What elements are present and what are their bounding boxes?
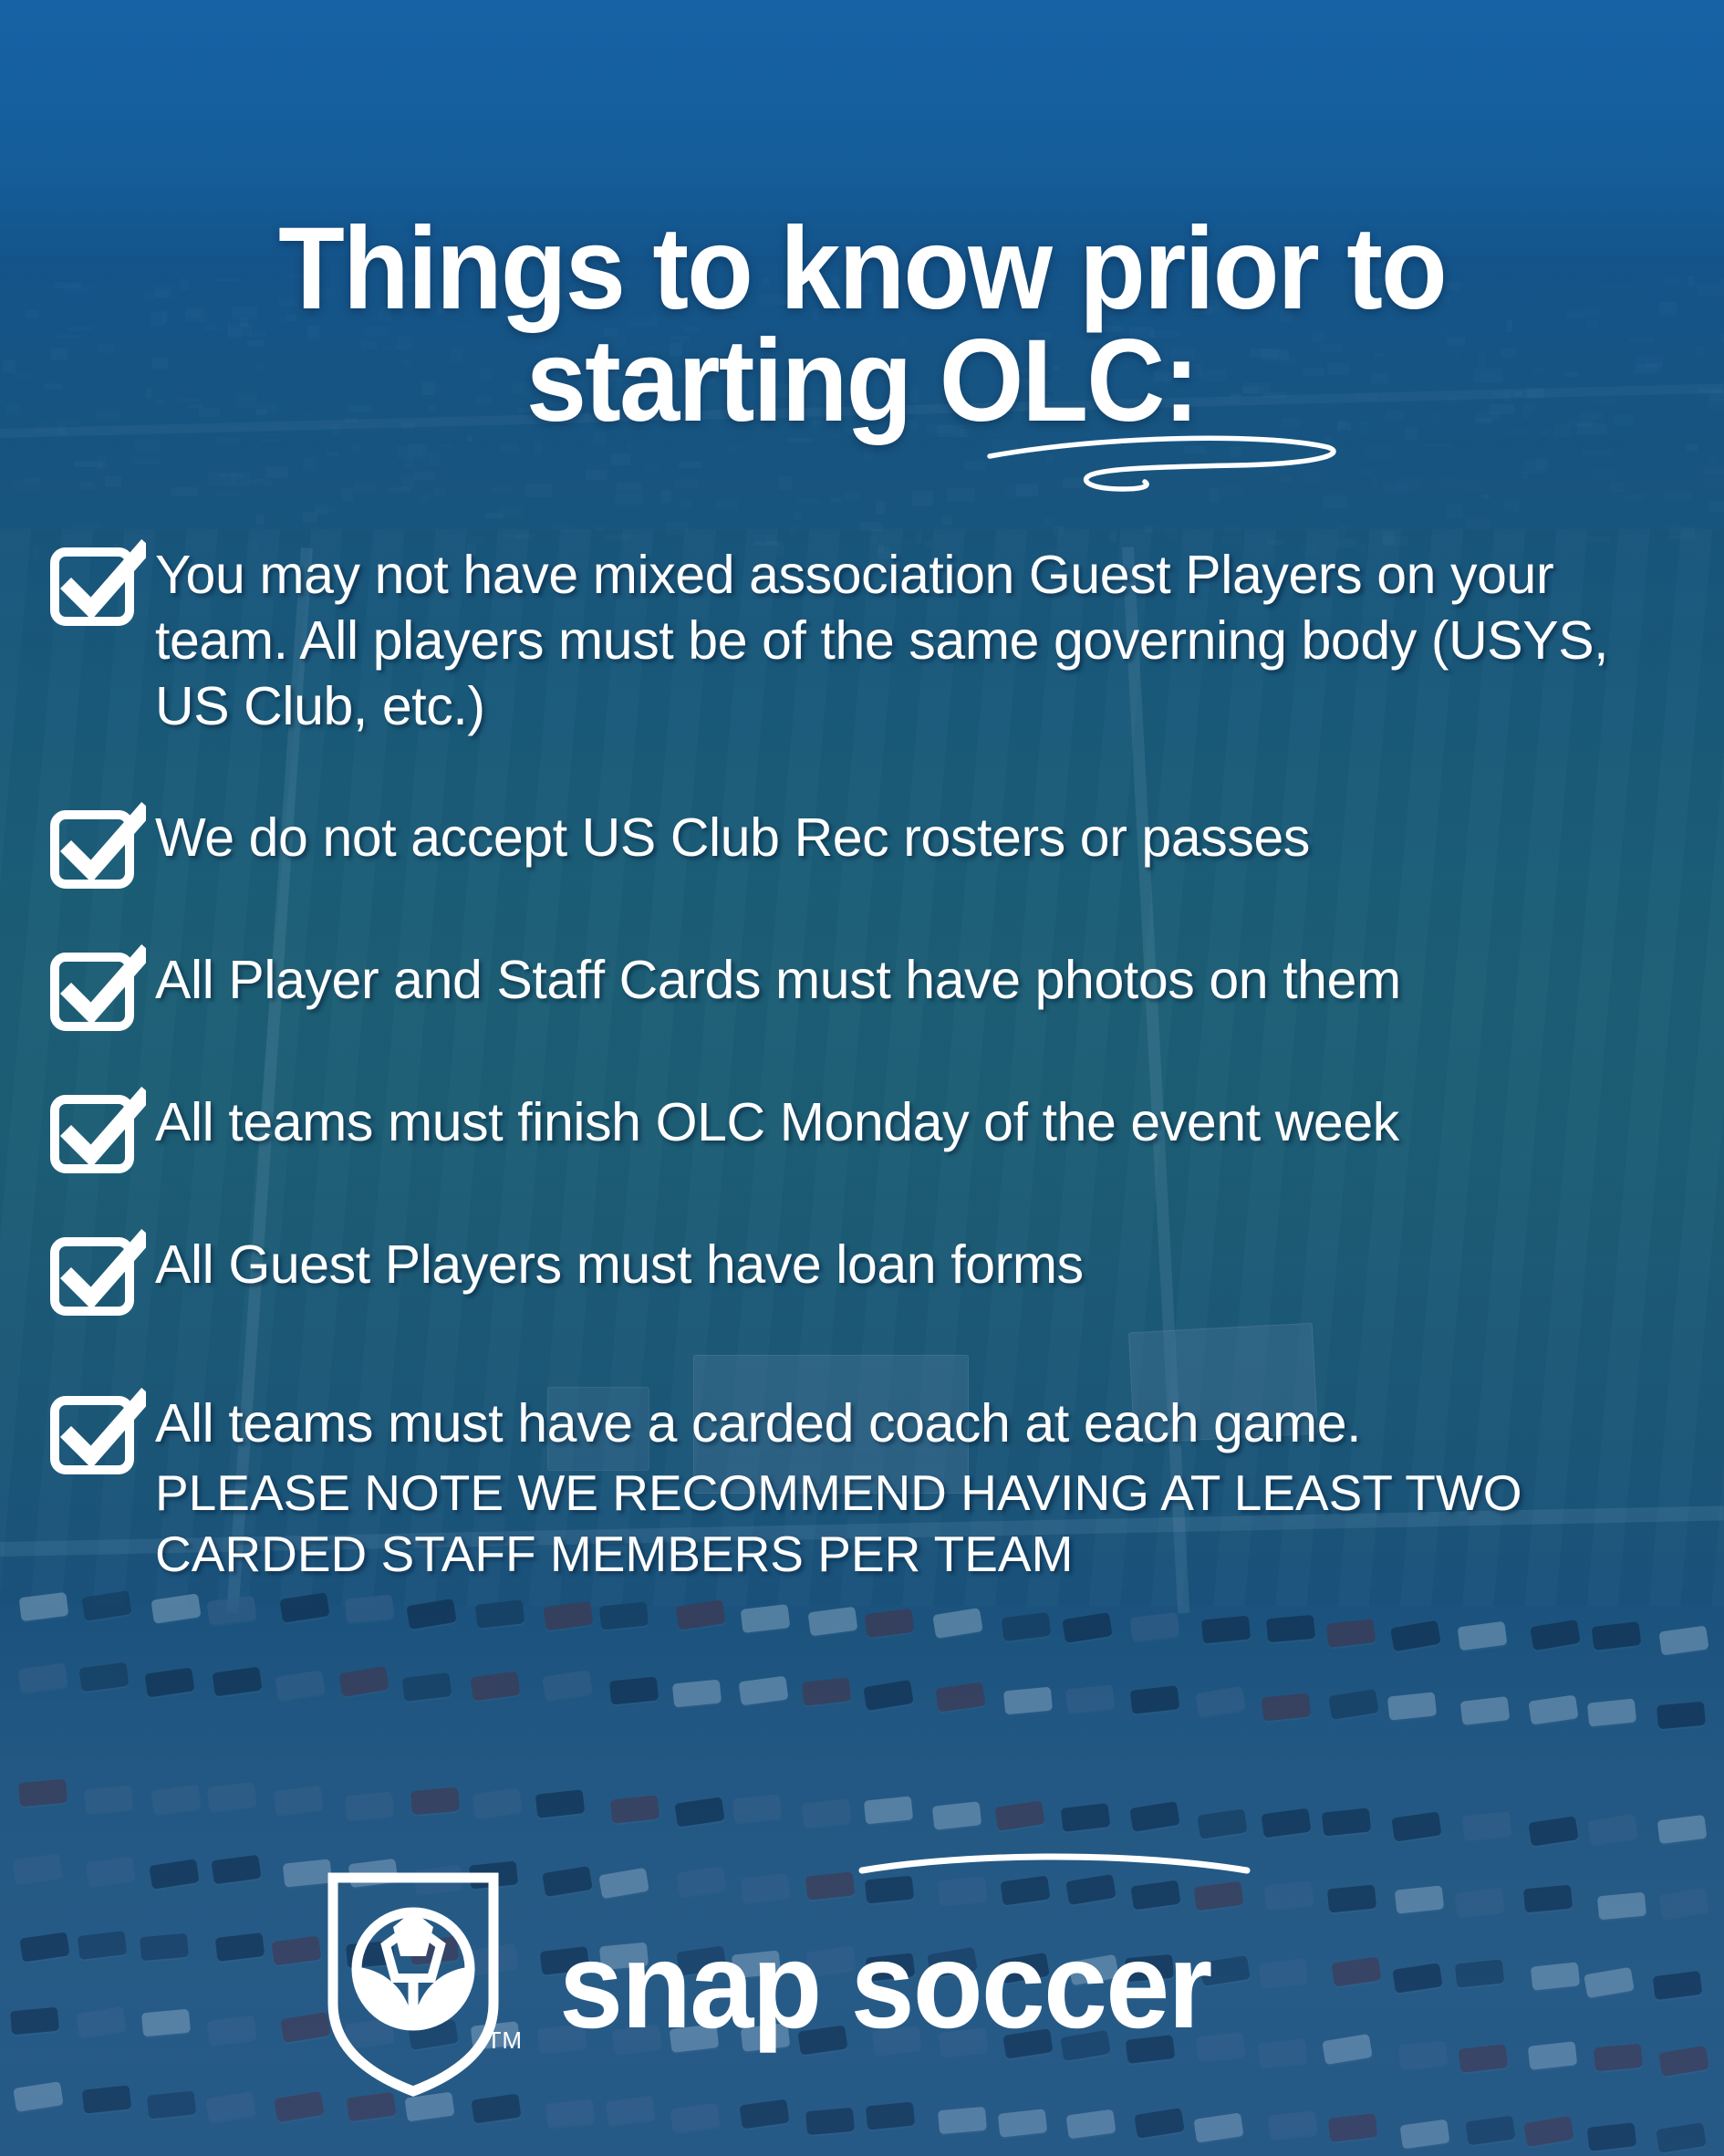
poster-root: Things to know prior to starting OLC: Yo…: [0, 0, 1724, 2156]
list-item: All Guest Players must have loan forms: [47, 1224, 1688, 1326]
list-item-label: All Player and Staff Cards must have pho…: [155, 939, 1401, 1014]
checkbox-checked-icon: [47, 1386, 146, 1484]
checkbox-checked-icon: [47, 800, 146, 899]
poster-content: Things to know prior to starting OLC: Yo…: [0, 0, 1724, 2156]
title-underline-swoosh-icon: [962, 412, 1345, 517]
list-item-note: PLEASE NOTE WE RECOMMEND HAVING AT LEAST…: [155, 1463, 1688, 1585]
list-item-text: All teams must have a carded coach at ea…: [155, 1393, 1361, 1453]
list-item-label: You may not have mixed association Guest…: [155, 534, 1688, 740]
list-item-label: All teams must have a carded coach at ea…: [155, 1382, 1688, 1585]
trademark-symbol: TM: [486, 2026, 523, 2055]
checkbox-checked-icon: [47, 537, 146, 636]
snap-soccer-shield-icon: TM: [324, 1869, 503, 2099]
page-title: Things to know prior to starting OLC:: [119, 214, 1605, 438]
list-item: All Player and Staff Cards must have pho…: [47, 939, 1688, 1041]
checklist: You may not have mixed association Guest…: [47, 534, 1688, 1585]
list-item-label: We do not accept US Club Rec rosters or …: [155, 797, 1310, 871]
list-item: We do not accept US Club Rec rosters or …: [47, 797, 1688, 899]
list-item: All teams must finish OLC Monday of the …: [47, 1081, 1688, 1183]
checkbox-checked-icon: [47, 1227, 146, 1326]
list-item-label: All teams must finish OLC Monday of the …: [155, 1081, 1399, 1156]
brand-logo: TM snap soccer: [324, 1869, 1252, 2099]
list-item: You may not have mixed association Guest…: [47, 534, 1688, 740]
checkbox-checked-icon: [47, 1085, 146, 1183]
list-item-label: All Guest Players must have loan forms: [155, 1224, 1084, 1298]
logo-wordmark: snap soccer: [559, 1925, 1210, 2047]
list-item: All teams must have a carded coach at ea…: [47, 1382, 1688, 1585]
checkbox-checked-icon: [47, 943, 146, 1041]
